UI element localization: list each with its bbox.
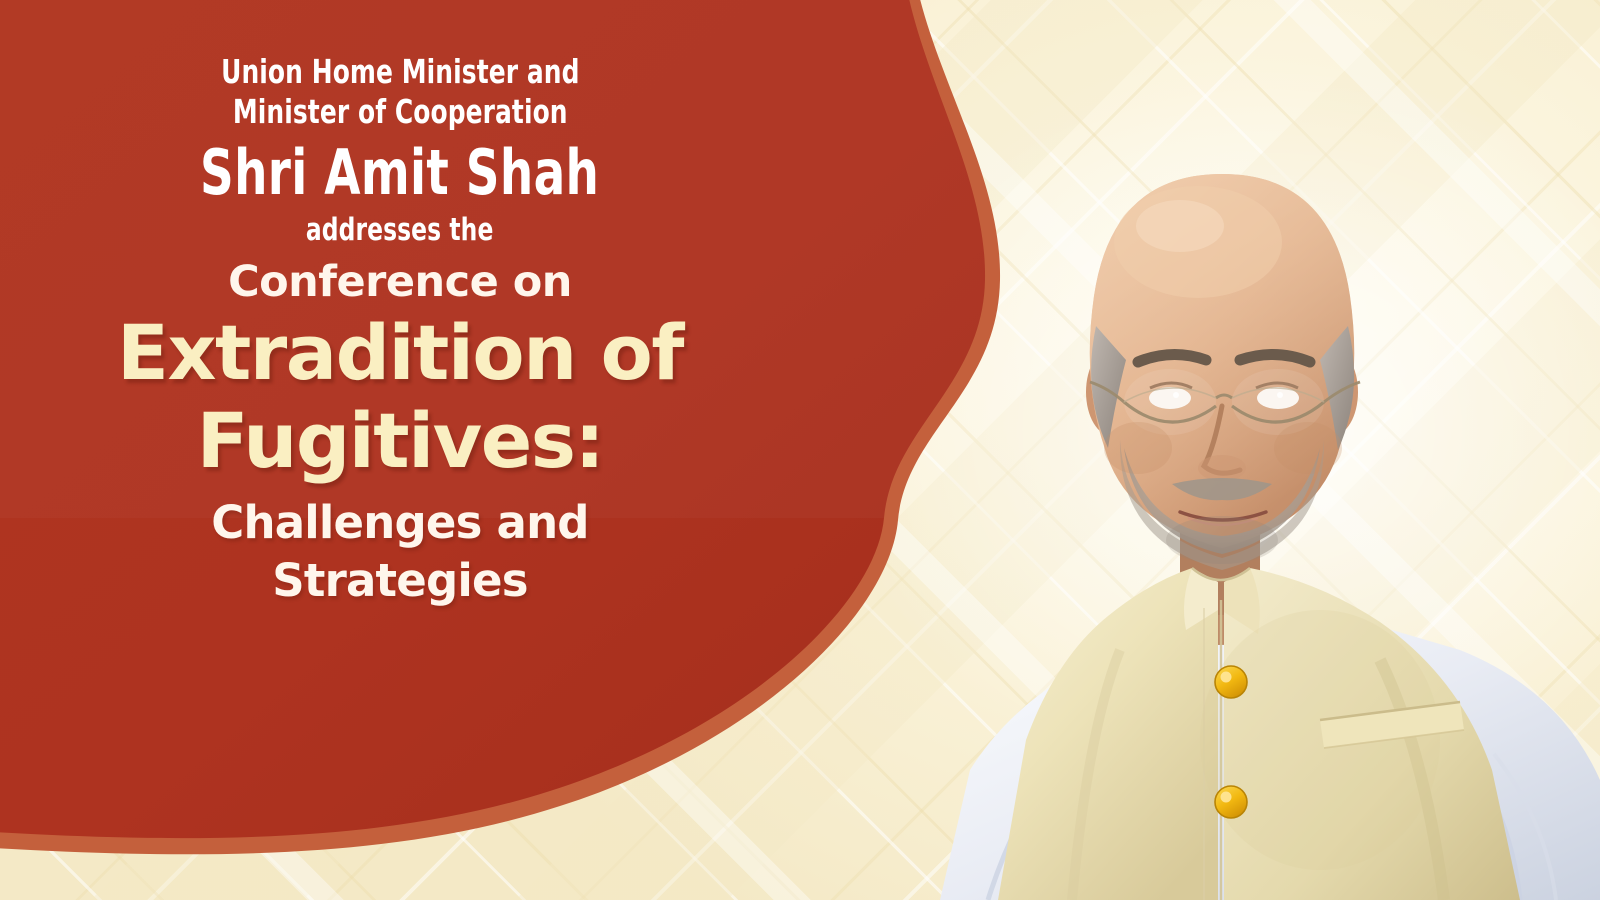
role-line-2: Minister of Cooperation [233, 92, 568, 132]
poster-canvas: Union Home Minister and Minister of Coop… [0, 0, 1600, 900]
verb-line: addresses the [306, 210, 494, 250]
role-line-1: Union Home Minister and [221, 52, 579, 92]
person-name: Shri Amit Shah [200, 138, 599, 208]
button-icon [1215, 786, 1247, 818]
button-icon [1215, 666, 1247, 698]
event-kicker: Conference on [228, 254, 572, 310]
headline-block: Union Home Minister and Minister of Coop… [0, 0, 800, 760]
event-subtitle-line-1: Challenges and [211, 494, 588, 552]
event-title-line-2: Fugitives: [197, 398, 604, 484]
event-subtitle-line-2: Strategies [272, 552, 527, 610]
event-title-line-1: Extradition of [117, 310, 683, 396]
